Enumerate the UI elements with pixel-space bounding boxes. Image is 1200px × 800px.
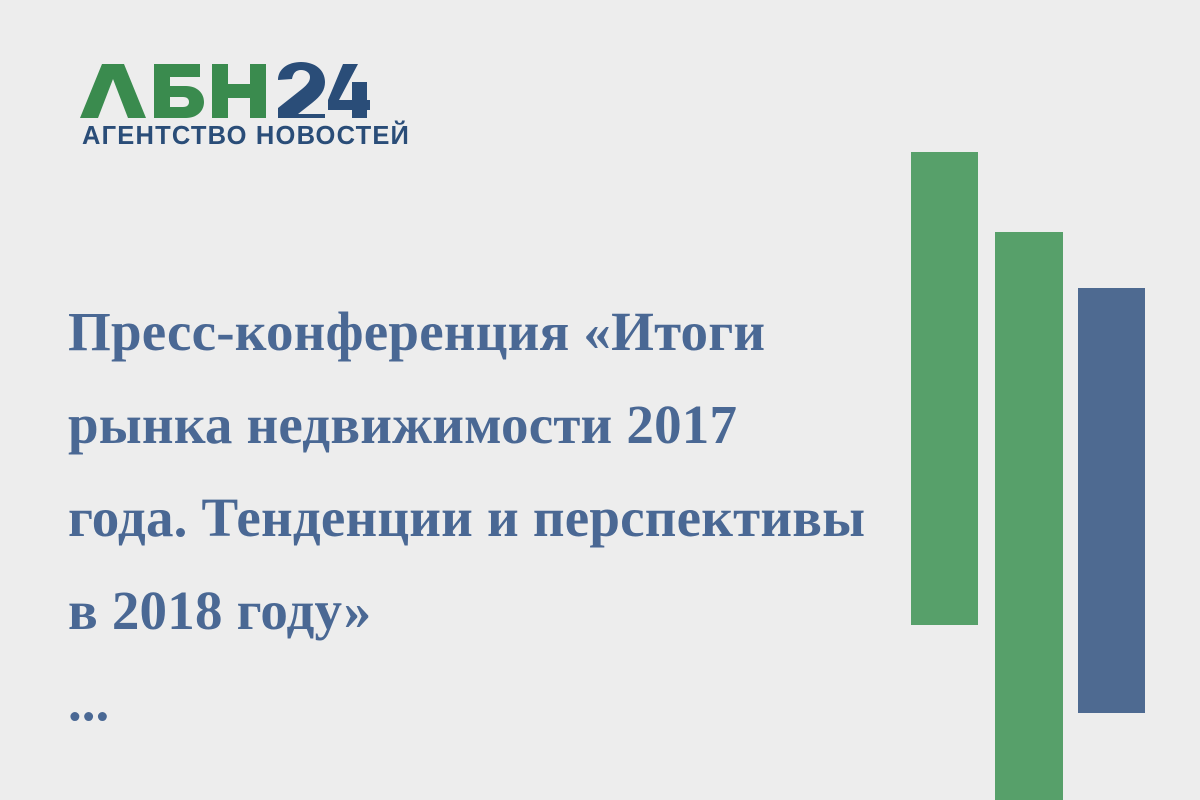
headline-ellipsis: ... — [68, 655, 109, 748]
chart-bar — [911, 152, 978, 625]
headline-title: Пресс-конференция «Итоги рынка недвижимо… — [68, 285, 868, 657]
abn24-wordmark-icon — [80, 62, 370, 124]
share-card-canvas: АГЕНТСТВО НОВОСТЕЙ Пресс-конференция «Ит… — [0, 0, 1200, 800]
chart-bar — [995, 232, 1063, 800]
chart-bar — [1078, 288, 1145, 713]
logo-tagline: АГЕНТСТВО НОВОСТЕЙ — [82, 122, 410, 151]
site-logo[interactable]: АГЕНТСТВО НОВОСТЕЙ — [80, 62, 370, 162]
